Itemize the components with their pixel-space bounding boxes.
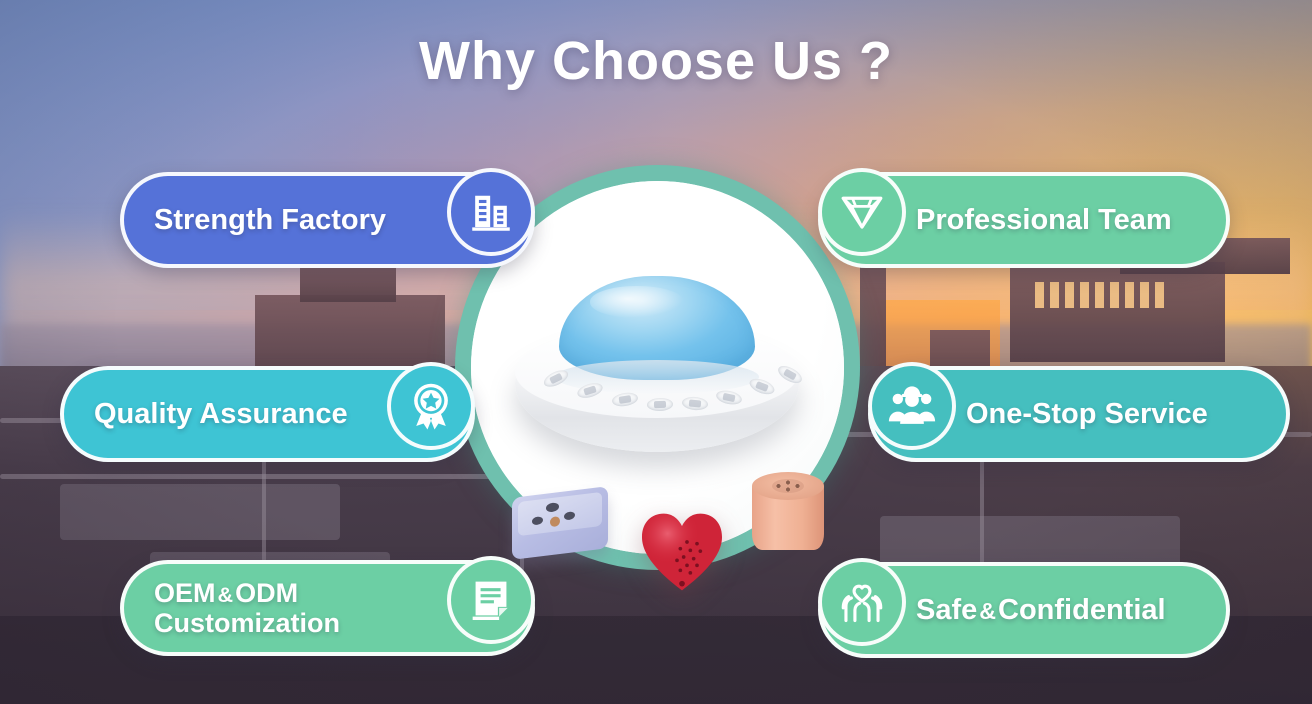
feature-label: Professional Team — [916, 204, 1172, 236]
page-title: Why Choose Us ? — [0, 30, 1312, 92]
feature-label: One-Stop Service — [966, 398, 1208, 430]
feature-label: Safe&Confidential — [916, 594, 1166, 626]
feature-pill-oem-odm-customization[interactable]: OEM&ODMCustomization — [120, 560, 535, 656]
product-image-dome-night-light — [497, 272, 817, 472]
feature-pill-quality-assurance[interactable]: Quality Assurance — [60, 366, 475, 462]
feature-pill-professional-team[interactable]: Professional Team — [818, 172, 1230, 268]
feature-label: Strength Factory — [154, 204, 386, 236]
building-factory-icon — [447, 168, 535, 256]
feature-pill-one-stop-service[interactable]: One-Stop Service — [868, 366, 1290, 462]
infographic-canvas: Why Choose Us ? — [0, 0, 1312, 704]
team-workers-helmet-icon — [868, 362, 956, 450]
document-contract-icon — [447, 556, 535, 644]
heart-in-hands-icon — [818, 558, 906, 646]
feature-pill-strength-factory[interactable]: Strength Factory — [120, 172, 535, 268]
feature-label: OEM&ODMCustomization — [154, 578, 340, 638]
product-control-buttons — [515, 368, 799, 420]
diamond-gem-icon — [818, 168, 906, 256]
feature-label: Quality Assurance — [94, 398, 348, 430]
award-badge-star-icon — [387, 362, 475, 450]
accessory-red-heart — [640, 512, 724, 592]
accessory-lavender-box — [512, 486, 608, 560]
feature-pill-safe-confidential[interactable]: Safe&Confidential — [818, 562, 1230, 658]
accessory-peach-cylinder — [752, 472, 824, 558]
